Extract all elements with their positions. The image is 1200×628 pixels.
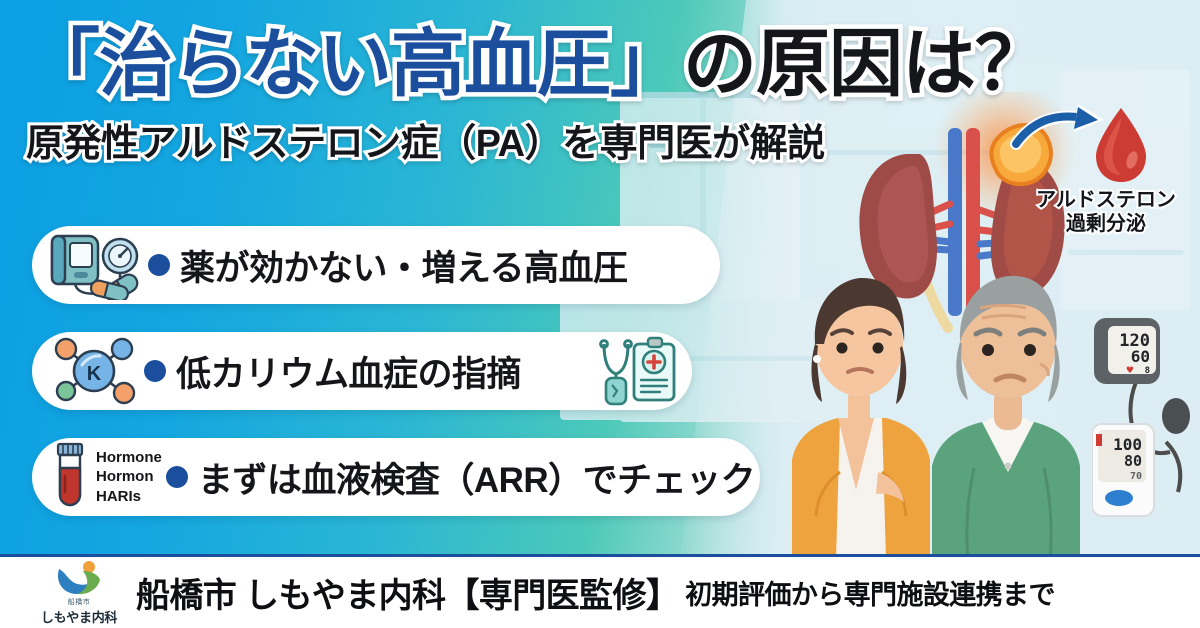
aldosterone-callout-line2: 過剰分泌 (1026, 212, 1186, 236)
monitor-top-pulse: 8 (1145, 366, 1150, 376)
molecule-symbol-label: K (87, 363, 102, 385)
patient-couple-illustration (782, 260, 1092, 560)
blood-pressure-monitor-icon (48, 230, 144, 300)
bullet-dot-2 (144, 360, 166, 382)
woman-figure (792, 278, 930, 560)
bullet-dot-1 (148, 254, 170, 276)
bullet-label-3: まずは血液検査（ARR）でチェック (198, 452, 755, 503)
page-subtitle: 原発性アルドステロン症（PA）を専門医が解説 (26, 112, 976, 167)
title-block: 「治らない高血圧」の原因は？ 原発性アルドステロン症（PA）を専門医が解説 (26, 24, 976, 167)
blood-tube-label-2: Hormon (96, 467, 162, 486)
bullet-label-2: 低カリウム血症の指摘 (176, 346, 521, 397)
blood-tube-icon (48, 442, 92, 512)
aldosterone-callout-line1: アルドステロン (1026, 188, 1186, 212)
blood-tube-label-1: Hormone (96, 448, 162, 467)
blood-tube-label-group: Hormone Hormon HARIs (96, 448, 162, 506)
title-rest: の原因は？ (683, 22, 1048, 105)
bullet-item-3: Hormone Hormon HARIs まずは血液検査（ARR）でチェック (32, 438, 760, 516)
clinic-logo: 船橋市 しもやま内科 (36, 560, 122, 626)
bullet-dot-3 (166, 466, 188, 488)
poster-canvas: 120 60 ♥ 8 100 80 70 アルドステロン 過剰分泌 「治らない高… (0, 0, 1200, 628)
monitor-top-diastolic: 60 (1131, 347, 1150, 366)
blood-tube-label-3: HARIs (96, 487, 162, 506)
potassium-molecule-icon: K (48, 335, 140, 407)
inflation-bulb (1162, 398, 1190, 434)
footer-clinic-title: 船橋市 しもやま内科【専門医監修】 (136, 568, 679, 617)
blood-pressure-monitor-devices: 120 60 ♥ 8 100 80 70 (1092, 312, 1196, 522)
monitor-bottom-diastolic: 80 (1124, 452, 1142, 470)
clinic-logo-city: 船橋市 (68, 597, 91, 607)
clinic-logo-mark (53, 560, 105, 596)
bullet-item-1: 薬が効かない・増える高血圧 (32, 226, 720, 304)
aldosterone-callout: アルドステロン 過剰分泌 (1026, 188, 1186, 237)
blood-drop-icon (1090, 104, 1152, 186)
footer-tagline: 初期評価から専門施設連携まで (685, 573, 1055, 612)
monitor-bottom-pulse: 70 (1130, 471, 1142, 482)
monitor-start-button (1105, 490, 1133, 506)
man-figure (932, 276, 1080, 560)
bullet-label-1: 薬が効かない・増える高血圧 (180, 240, 627, 291)
title-highlight: 「治らない高血圧」 (26, 22, 683, 105)
footer-bar: 船橋市 しもやま内科 船橋市 しもやま内科【専門医監修】 初期評価から専門施設連… (0, 554, 1200, 628)
clinic-logo-name: しもやま内科 (41, 607, 117, 626)
page-title: 「治らない高血圧」の原因は？ (26, 24, 976, 104)
monitor-top-heart-icon: ♥ (1126, 366, 1134, 376)
bullet-item-2: K 低カリウム血症の指摘 (32, 332, 692, 410)
stethoscope-clipboard-icon (592, 336, 678, 406)
